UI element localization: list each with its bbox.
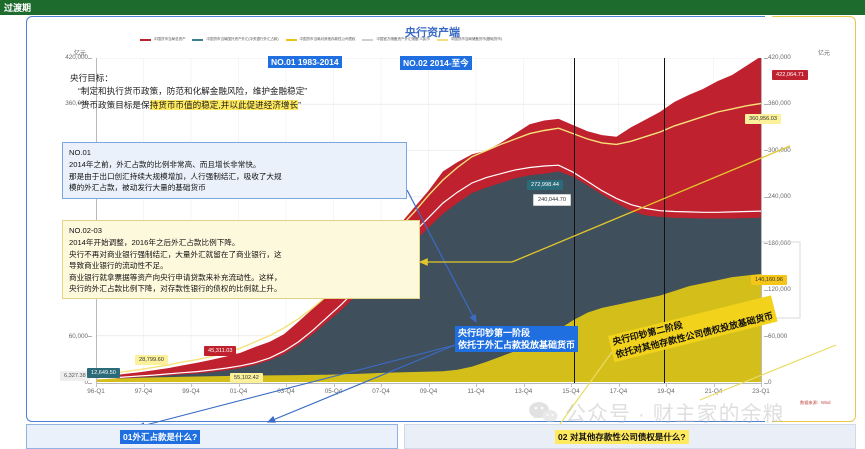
note2-line-3: 商业银行就拿票据等资产向央行申请贷款来补充流动性。这样， bbox=[69, 272, 413, 283]
data-label-lbl-422064: 422,064.71 bbox=[772, 70, 808, 80]
legend-swatch bbox=[140, 39, 151, 41]
note1-line-2: 模的外汇占款，被动发行大量的基础货币 bbox=[69, 182, 400, 193]
y-tick-right: 300,000 bbox=[768, 147, 791, 154]
data-label-lbl-140160: 140,160.96 bbox=[751, 275, 787, 285]
x-tick: 03-Q4 bbox=[277, 388, 295, 395]
legend-swatch bbox=[437, 39, 448, 41]
data-label-lbl-360956: 360,956.03 bbox=[745, 114, 781, 124]
x-tick: 09-Q4 bbox=[420, 388, 438, 395]
note-box-no1: NO.01 2014年之前，外汇占款的比例非常高、而且增长非常快。 那是由于出口… bbox=[62, 142, 407, 199]
note2-line-2: 导致商业银行的流动性不足。 bbox=[69, 260, 413, 271]
goal-line-2-plain: “货币政策目标是保 bbox=[78, 100, 150, 110]
legend-item-4: 中国货币当局储备货币(基础货币) bbox=[437, 37, 502, 42]
y-tick-right: 60,000 bbox=[768, 333, 787, 340]
y-tick-left: 60,000 bbox=[40, 333, 88, 340]
legend-label: 中国货币当局国外资产外汇(中央银行外汇占款) bbox=[206, 37, 278, 42]
legend-label: 中国官方储备资产外汇储备:人民币 bbox=[376, 37, 429, 42]
data-label-lbl-12649: 12,649.50 bbox=[87, 368, 120, 378]
note2-line-0: 2014年开始调整，2016年之后外汇占款比例下降。 bbox=[69, 237, 413, 248]
y-tick-right: 360,000 bbox=[768, 100, 791, 107]
legend-item-2: 中国货币当局对其他存款性公司债权 bbox=[286, 37, 356, 42]
legend-item-0: 中国货币当局总资产 bbox=[140, 37, 185, 42]
y-tick-right: 0 bbox=[768, 379, 772, 386]
tag-transition: 过渡期 bbox=[0, 0, 865, 15]
x-tick-mark bbox=[334, 383, 335, 387]
x-tick: 13-Q4 bbox=[515, 388, 533, 395]
x-tick-mark bbox=[666, 383, 667, 387]
note-box-no2: NO.02-03 2014年开始调整，2016年之后外汇占款比例下降。 央行不再… bbox=[62, 220, 420, 299]
x-tick: 01-Q4 bbox=[230, 388, 248, 395]
x-tick-mark bbox=[714, 383, 715, 387]
legend-label: 中国货币当局储备货币(基础货币) bbox=[451, 37, 502, 42]
legend-item-3: 中国官方储备资产外汇储备:人民币 bbox=[362, 37, 429, 42]
note1-line-0: 2014年之前，外汇占款的比例非常高、而且增长非常快。 bbox=[69, 159, 400, 170]
data-label-lbl-45311: 45,311.03 bbox=[204, 346, 236, 356]
legend-swatch bbox=[286, 39, 297, 41]
x-tick-mark bbox=[429, 383, 430, 387]
y-tick-left: 420,000 bbox=[40, 54, 88, 61]
x-tick: 05-Q4 bbox=[325, 388, 343, 395]
note2-line-4: 央行的外汇占款比例下降，对存款性银行的债权的比例就上升。 bbox=[69, 283, 413, 294]
y-tick-right: 180,000 bbox=[768, 240, 791, 247]
x-tick: 97-Q4 bbox=[135, 388, 153, 395]
x-tick: 19-Q4 bbox=[657, 388, 675, 395]
legend-item-1: 中国货币当局国外资产外汇(中央银行外汇占款) bbox=[192, 37, 278, 42]
data-label-lbl-240044: 240,044.70 bbox=[533, 194, 571, 206]
data-label-lbl-6327: 6,327.38 bbox=[60, 371, 90, 381]
goal-line-2-end: ” bbox=[298, 100, 301, 110]
legend-swatch bbox=[192, 39, 203, 41]
note1-heading: NO.01 bbox=[69, 147, 400, 158]
x-tick-mark bbox=[286, 383, 287, 387]
x-tick: 23-Q1 bbox=[752, 388, 770, 395]
x-tick-mark bbox=[191, 383, 192, 387]
x-tick-mark bbox=[524, 383, 525, 387]
chart-legend: 中国货币当局总资产 中国货币当局国外资产外汇(中央银行外汇占款) 中国货币当局对… bbox=[140, 37, 740, 42]
legend-label: 中国货币当局总资产 bbox=[154, 37, 185, 42]
note1-line-1: 那是由于出口创汇持续大规模增加，人行强制结汇，吸收了大规 bbox=[69, 171, 400, 182]
question-box-1[interactable] bbox=[26, 424, 398, 449]
x-tick: 15-Q4 bbox=[562, 388, 580, 395]
x-tick: 21-Q4 bbox=[705, 388, 723, 395]
x-tick-mark bbox=[761, 383, 762, 387]
y-tick-right: 420,000 bbox=[768, 54, 791, 61]
x-tick-mark bbox=[144, 383, 145, 387]
x-tick: 11-Q4 bbox=[467, 388, 484, 395]
x-tick-mark bbox=[96, 383, 97, 387]
central-bank-goal-text: 央行目标： “制定和执行货币政策，防范和化解金融风险，维护金融稳定” “货币政策… bbox=[70, 72, 307, 112]
x-tick-mark bbox=[476, 383, 477, 387]
y-axis-line-right bbox=[761, 58, 762, 384]
y-tick-right: 120,000 bbox=[768, 286, 791, 293]
screenshot-root: 央行资产端 中国货币当局总资产 中国货币当局国外资产外汇(中央银行外汇占款) 中… bbox=[0, 0, 865, 449]
x-tick-mark bbox=[381, 383, 382, 387]
y-tick-right: 240,000 bbox=[768, 193, 791, 200]
legend-label: 中国货币当局对其他存款性公司债权 bbox=[300, 37, 356, 42]
data-label-lbl-28799: 28,799.60 bbox=[135, 355, 168, 365]
note2-line-1: 央行不再对商业银行强制结汇，大量外汇就留在了商业银行，这 bbox=[69, 249, 413, 260]
goal-line-2-highlight: 持货币币值的稳定,并以此促进经济增长 bbox=[150, 100, 298, 110]
goal-line-2: “货币政策目标是保持货币币值的稳定,并以此促进经济增长” bbox=[70, 99, 307, 112]
x-tick: 07-Q4 bbox=[372, 388, 390, 395]
x-tick: 99-Q4 bbox=[182, 388, 200, 395]
tag-no2: NO.02 2014-至今 bbox=[400, 56, 472, 70]
y-axis-unit-right: 亿元 bbox=[818, 48, 830, 57]
data-label-lbl-272998: 272,998.44 bbox=[527, 180, 563, 190]
goal-heading: 央行目标： bbox=[70, 72, 307, 85]
note2-heading: NO.02-03 bbox=[69, 225, 413, 236]
x-tick: 17-Q4 bbox=[610, 388, 628, 395]
x-tick: 96-Q1 bbox=[87, 388, 105, 395]
x-tick-mark bbox=[571, 383, 572, 387]
x-tick-mark bbox=[619, 383, 620, 387]
legend-swatch bbox=[362, 39, 373, 41]
question-label-1[interactable]: 01外汇占款是什么? bbox=[120, 430, 200, 444]
tag-no1: NO.01 1983-2014 bbox=[268, 56, 342, 68]
x-tick-mark bbox=[239, 383, 240, 387]
phase1-line-1: 央行印钞第一阶段 bbox=[458, 327, 575, 339]
goal-line-1: “制定和执行货币政策，防范和化解金融风险，维护金融稳定” bbox=[70, 85, 307, 98]
phase1-callout: 央行印钞第一阶段 依托于外汇占款投放基础货币 bbox=[455, 326, 578, 352]
question-label-2[interactable]: 02 对其他存款性公司债权是什么? bbox=[555, 430, 689, 444]
phase1-line-2: 依托于外汇占款投放基础货币 bbox=[458, 339, 575, 351]
data-label-lbl-55102: 55,102.42 bbox=[230, 373, 263, 383]
source-note: 数据来源：Wind bbox=[800, 400, 830, 406]
